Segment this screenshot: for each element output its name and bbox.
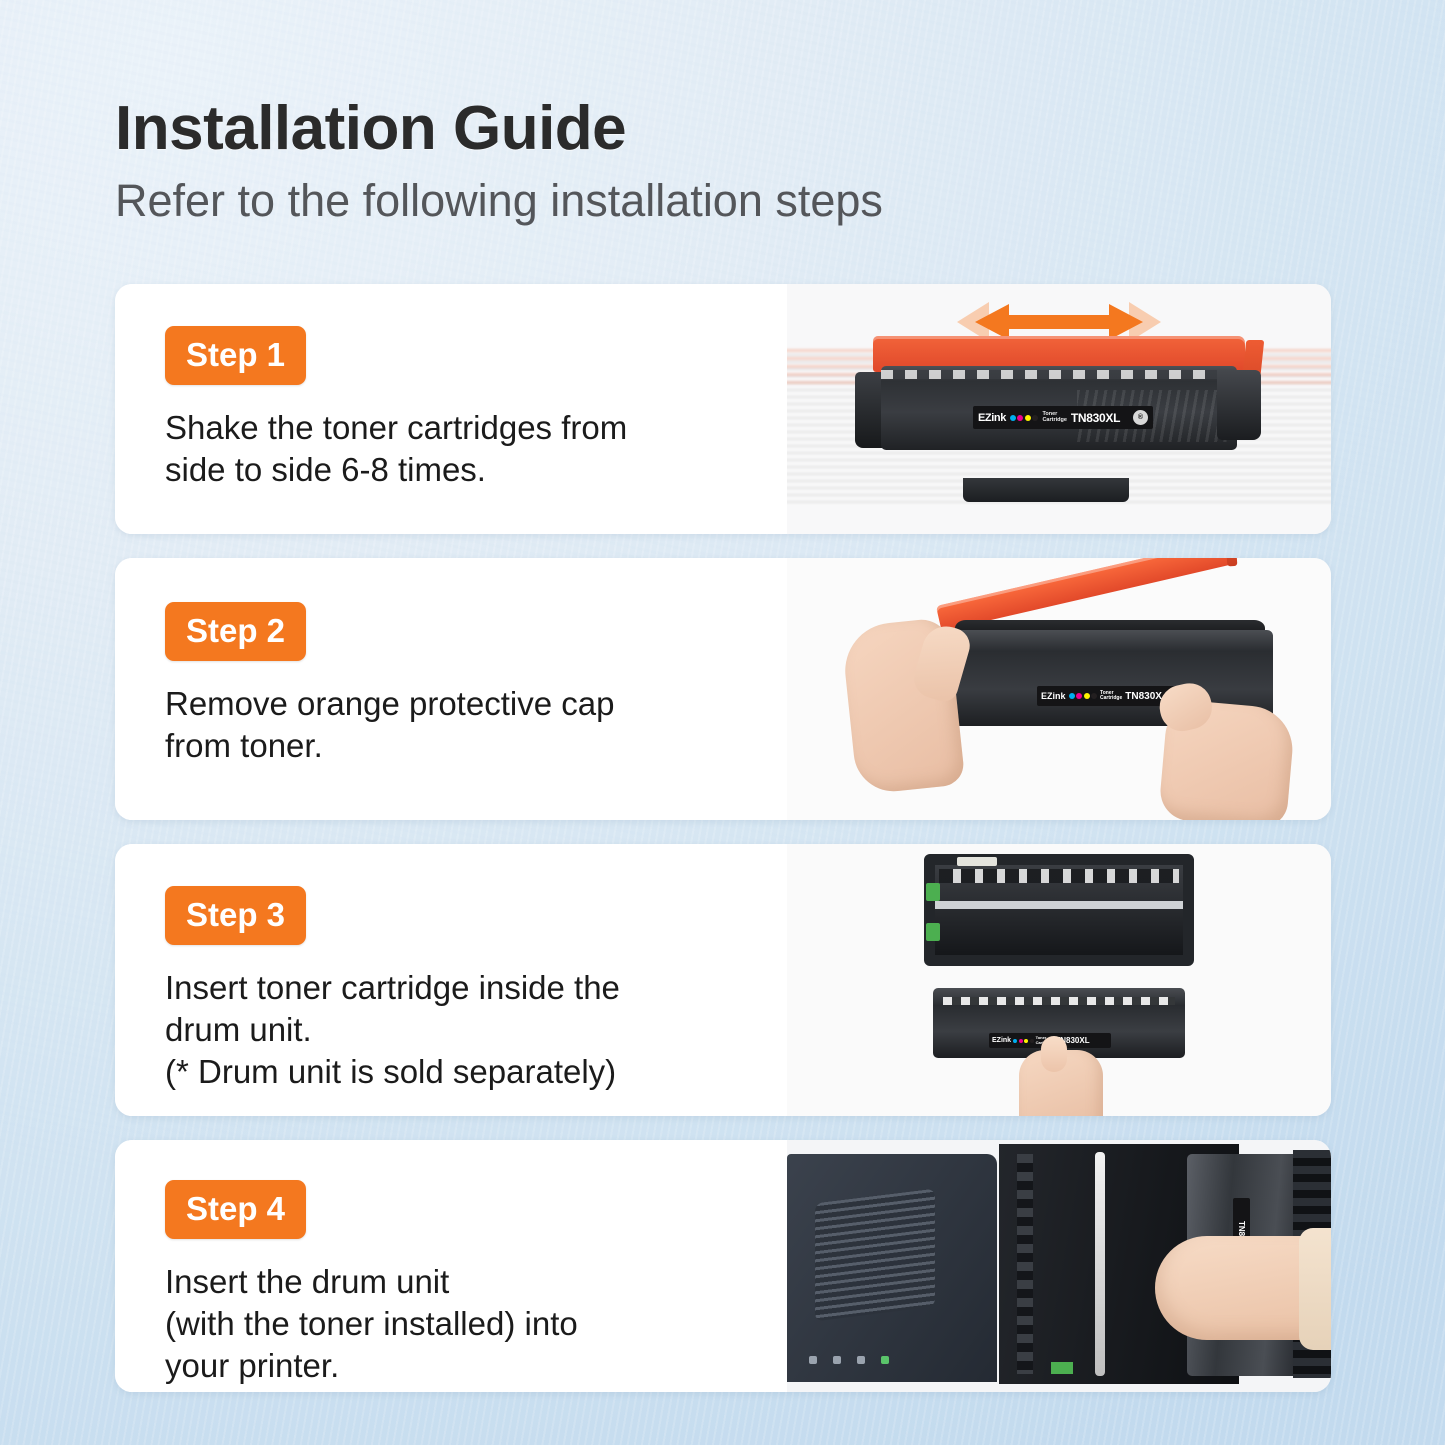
- drum-unit-graphic: [924, 854, 1194, 966]
- step-3-description: Insert toner cartridge inside the drum u…: [165, 967, 761, 1094]
- drum-middle-bar: [935, 901, 1183, 909]
- registered-mark-icon: ®: [1133, 410, 1148, 425]
- step-1-line-1: Shake the toner cartridges from: [165, 407, 761, 449]
- step-card-2: Step 2 Remove orange protective cap from…: [115, 558, 1331, 820]
- model-number: TN830XL: [1071, 411, 1120, 425]
- right-hand: [1158, 699, 1296, 820]
- step-3-text: Step 3 Insert toner cartridge inside the…: [115, 844, 787, 1116]
- page-title: Installation Guide: [115, 96, 1335, 161]
- step-2-description: Remove orange protective cap from toner.: [165, 683, 761, 767]
- step-card-4: Step 4 Insert the drum unit (with the to…: [115, 1140, 1331, 1392]
- brand-name: EZink: [978, 412, 1006, 424]
- step-2-line-1: Remove orange protective cap: [165, 683, 761, 725]
- model-number: TN830X: [1125, 691, 1162, 702]
- printer-control-panel: [809, 1352, 949, 1368]
- panel-button-2: [833, 1356, 841, 1364]
- bay-rail: [1017, 1154, 1033, 1374]
- step-1-description: Shake the toner cartridges from side to …: [165, 407, 761, 491]
- step-card-1: Step 1 Shake the toner cartridges from s…: [115, 284, 1331, 534]
- removing-orange-cap-image: EZink Toner Cartridge TN830X: [787, 558, 1331, 820]
- step-1-line-2: side to side 6-8 times.: [165, 449, 761, 491]
- guide-header: Installation Guide Refer to the followin…: [115, 96, 1335, 227]
- holding-hand: [1019, 1050, 1103, 1116]
- step-3-line-2: drum unit.: [165, 1009, 761, 1051]
- printer-vent-grille: [815, 1189, 935, 1322]
- step-card-3: Step 3 Insert toner cartridge inside the…: [115, 844, 1331, 1116]
- step-3-badge: Step 3: [165, 886, 306, 945]
- steps-list: Step 1 Shake the toner cartridges from s…: [115, 284, 1331, 1416]
- cmyk-dots-icon: [1010, 415, 1039, 421]
- step-3-note: (* Drum unit is sold separately): [165, 1051, 761, 1093]
- panel-button-1: [809, 1356, 817, 1364]
- drum-green-gear-bottom: [926, 923, 940, 941]
- drum-top-bar: [939, 869, 1179, 883]
- cartridge-foot: [963, 478, 1129, 502]
- brand-name: EZink: [992, 1037, 1011, 1044]
- product-label: EZink Toner Cartridge TN830XL ®: [973, 406, 1153, 429]
- step-4-line-1: Insert the drum unit: [165, 1261, 761, 1303]
- drum-label-tag: [957, 857, 997, 866]
- drum-green-gear-top: [926, 883, 940, 901]
- step-4-line-2: (with the toner installed) into: [165, 1303, 761, 1345]
- toner-into-drum-unit-image: EZink Toner Cartridge TN830XL: [787, 844, 1331, 1116]
- cmyk-dots-icon: [1069, 693, 1098, 699]
- step-2-line-2: from toner.: [165, 725, 761, 767]
- type-line-2: Cartridge: [1100, 695, 1122, 701]
- drum-into-printer-image: TN830XL EZink: [787, 1140, 1331, 1392]
- index-finger: [1041, 1036, 1067, 1072]
- step-2-text: Step 2 Remove orange protective cap from…: [115, 558, 787, 820]
- page-subtitle: Refer to the following installation step…: [115, 175, 1335, 227]
- left-hand: [841, 617, 966, 795]
- cartridge-type: Toner Cartridge: [1042, 412, 1066, 424]
- step-4-text: Step 4 Insert the drum unit (with the to…: [115, 1140, 787, 1392]
- step-4-line-3: your printer.: [165, 1345, 761, 1387]
- toner-cartridge-graphic: EZink Toner Cartridge TN830XL ®: [855, 336, 1263, 486]
- installation-guide-page: Installation Guide Refer to the followin…: [0, 0, 1445, 1445]
- panel-button-3: [857, 1356, 865, 1364]
- sleeve-cuff: [1299, 1228, 1331, 1350]
- cartridge-right-end: [1217, 370, 1261, 440]
- step-2-badge: Step 2: [165, 602, 306, 661]
- step-1-text: Step 1 Shake the toner cartridges from s…: [115, 284, 787, 534]
- cmyk-dots-icon: [1013, 1039, 1034, 1043]
- inserting-hand: [1155, 1236, 1331, 1340]
- step-1-badge: Step 1: [165, 326, 306, 385]
- cartridge-type: Toner Cartridge: [1100, 691, 1122, 702]
- printer-body: [787, 1154, 997, 1382]
- shaking-toner-cartridge-image: EZink Toner Cartridge TN830XL ®: [787, 284, 1331, 534]
- bay-green-slider: [1051, 1362, 1073, 1374]
- step-4-description: Insert the drum unit (with the toner ins…: [165, 1261, 761, 1388]
- brand-name: EZink: [1041, 691, 1066, 701]
- panel-indicator-green: [881, 1356, 889, 1364]
- step-4-badge: Step 4: [165, 1180, 306, 1239]
- bay-white-roller: [1095, 1152, 1105, 1376]
- type-line-2: Cartridge: [1042, 417, 1066, 423]
- step-3-line-1: Insert toner cartridge inside the: [165, 967, 761, 1009]
